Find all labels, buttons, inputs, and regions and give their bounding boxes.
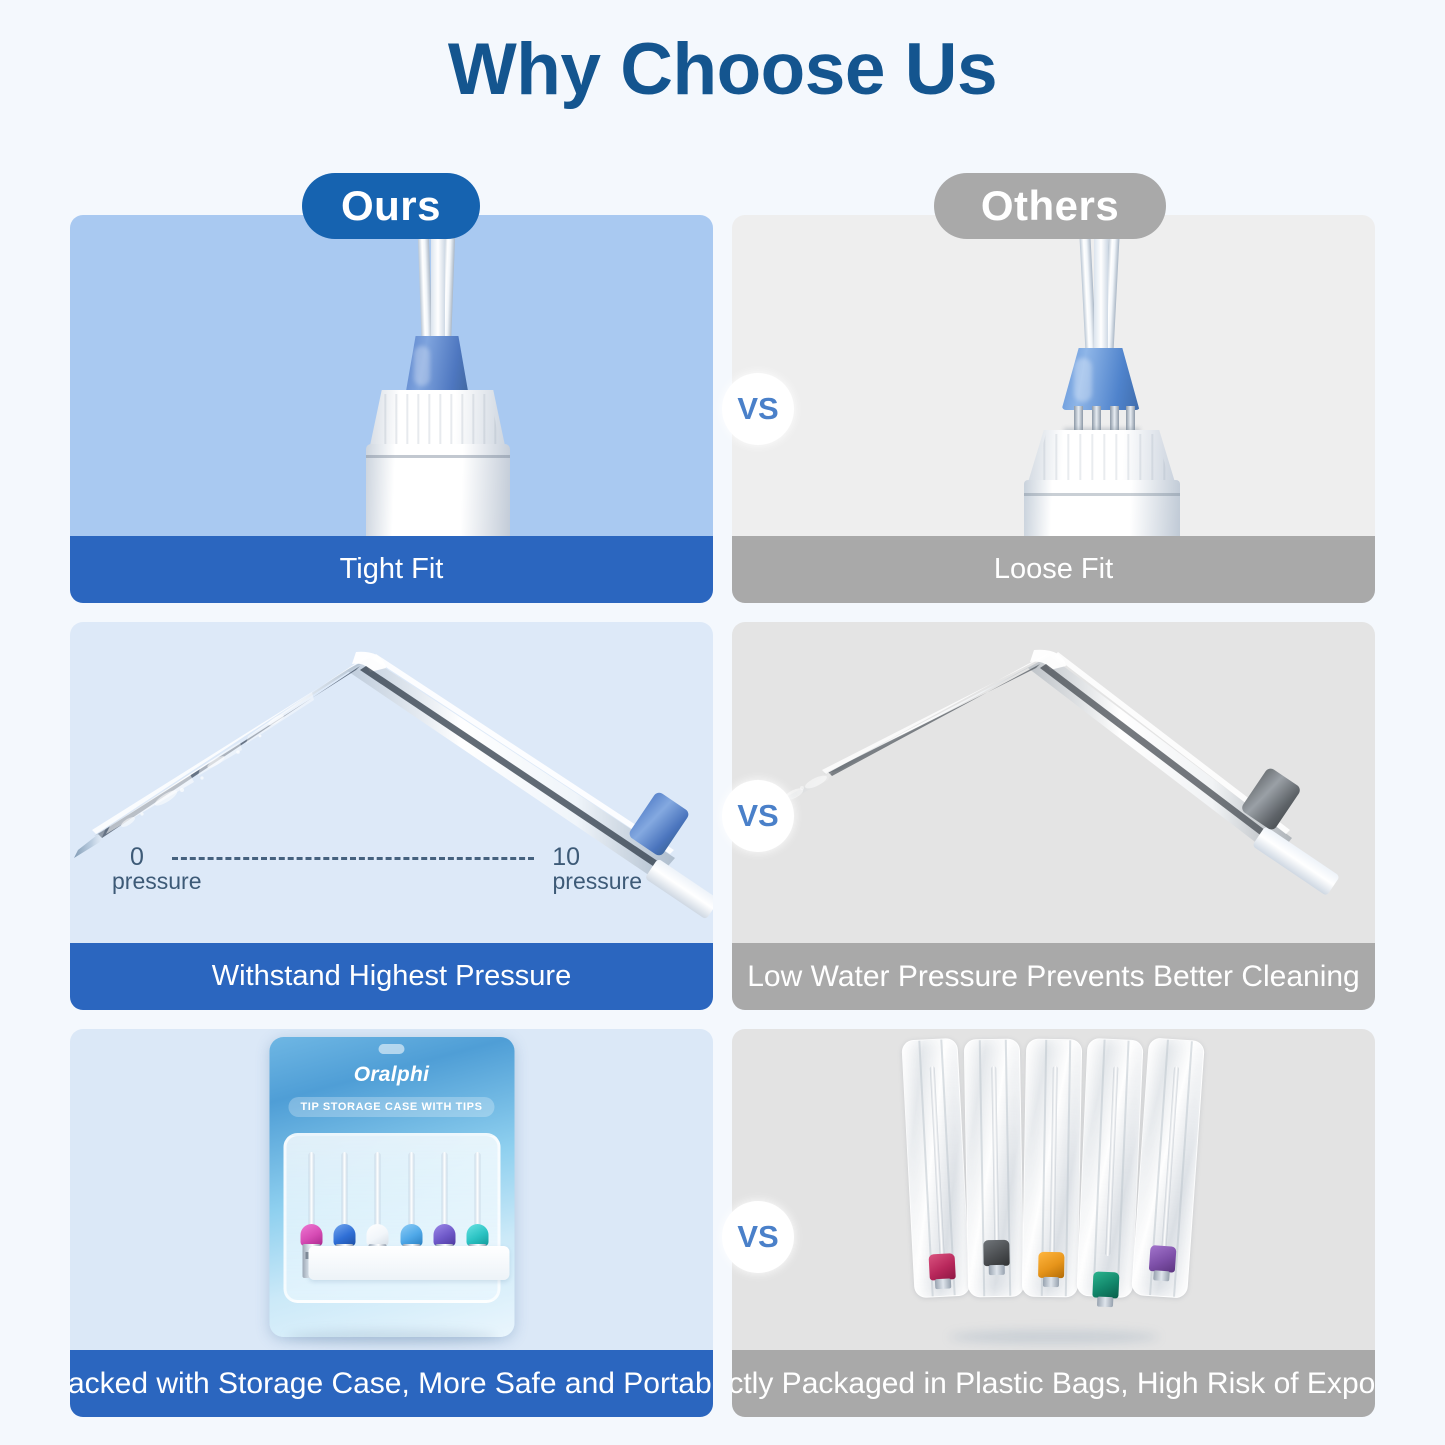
handle-ridges xyxy=(376,394,500,446)
storage-case-package: Oralphi TIP STORAGE CASE WITH TIPS xyxy=(269,1037,514,1337)
caption-others-fit: Loose Fit xyxy=(732,536,1375,603)
tip-cap xyxy=(434,1224,456,1246)
comparison-grid: Tight Fit xyxy=(70,215,1375,1436)
plastic-sleeve xyxy=(901,1038,970,1299)
tip-cap xyxy=(928,1253,955,1280)
tip-shaft xyxy=(929,1066,944,1256)
package-brand: Oralphi xyxy=(269,1063,514,1087)
vs-badge-label: VS xyxy=(737,798,778,834)
comparison-infographic: Why Choose Us Ours Others xyxy=(0,0,1445,1445)
column-badge-others: Others xyxy=(934,173,1166,239)
comparison-row-pressure: 0 pressure 10 pressure Withstand Highest… xyxy=(70,622,1375,1010)
caption-ours-packaging: Packed with Storage Case, More Safe and … xyxy=(70,1350,713,1417)
comparison-row-fit: Tight Fit xyxy=(70,215,1375,603)
hang-hole xyxy=(379,1044,405,1054)
case-tray xyxy=(283,1133,500,1303)
tip-shaft xyxy=(1049,1066,1057,1256)
sleeve-crease xyxy=(1064,1040,1070,1296)
tip-cap xyxy=(1148,1245,1176,1273)
caption-others-packaging: Directly Packaged in Plastic Bags, High … xyxy=(732,1350,1375,1417)
tip-cap xyxy=(983,1240,1009,1266)
caption-others-pressure: Low Water Pressure Prevents Better Clean… xyxy=(732,943,1375,1010)
pressure-max-label: pressure xyxy=(553,868,642,894)
column-badge-ours-label: Ours xyxy=(341,182,441,230)
plastic-bag-bundle xyxy=(904,1039,1204,1339)
product-image-ours-fit xyxy=(70,215,713,536)
sleeve-crease xyxy=(1092,1040,1105,1296)
handle-body xyxy=(1024,480,1180,536)
tip-cap xyxy=(400,1224,422,1246)
product-image-others-fit xyxy=(732,215,1375,536)
drop-shadow xyxy=(949,1330,1159,1344)
pressure-min-label: pressure xyxy=(112,868,201,894)
handle-seam xyxy=(1024,493,1180,496)
card-others-fit: Loose Fit xyxy=(732,215,1375,603)
caption-ours-fit: Tight Fit xyxy=(70,536,713,603)
pressure-max-value: 10 xyxy=(552,843,580,871)
tip-cap xyxy=(367,1224,389,1246)
vs-badge-label: VS xyxy=(737,1219,778,1255)
vs-badge-row-fit: VS xyxy=(722,373,794,445)
tip-cap xyxy=(467,1224,489,1246)
drop-shadow xyxy=(287,1330,497,1344)
card-ours-pressure: 0 pressure 10 pressure Withstand Highest… xyxy=(70,622,713,1010)
product-image-ours-pressure: 0 pressure 10 pressure xyxy=(70,622,713,943)
plastic-sleeve xyxy=(963,1039,1023,1298)
product-image-others-pressure xyxy=(732,622,1375,943)
handle-seam xyxy=(366,455,510,458)
tip-cap xyxy=(1038,1252,1064,1278)
package-subtitle: TIP STORAGE CASE WITH TIPS xyxy=(288,1097,494,1117)
pressure-min-value: 0 xyxy=(130,843,144,871)
handle-ridges xyxy=(1034,434,1170,482)
card-others-packaging: Directly Packaged in Plastic Bags, High … xyxy=(732,1029,1375,1417)
case-base-block xyxy=(308,1246,509,1280)
tip-shaft xyxy=(1105,1066,1118,1256)
collar-highlight xyxy=(1074,358,1092,402)
caption-ours-pressure: Withstand Highest Pressure xyxy=(70,943,713,1010)
column-badge-others-label: Others xyxy=(981,182,1119,230)
tip-cap xyxy=(1092,1271,1119,1298)
tip-cap xyxy=(300,1224,322,1246)
vs-badge-row-packaging: VS xyxy=(722,1201,794,1273)
vs-badge-row-pressure: VS xyxy=(722,780,794,852)
tip-shaft xyxy=(991,1066,999,1256)
vs-badge-label: VS xyxy=(737,391,778,427)
card-others-pressure: Low Water Pressure Prevents Better Clean… xyxy=(732,622,1375,1010)
collar-highlight xyxy=(414,346,430,386)
product-image-ours-packaging: Oralphi TIP STORAGE CASE WITH TIPS xyxy=(70,1029,713,1350)
column-badge-ours: Ours xyxy=(302,173,480,239)
comparison-row-packaging: Oralphi TIP STORAGE CASE WITH TIPS xyxy=(70,1029,1375,1417)
plastic-sleeve xyxy=(1021,1039,1081,1298)
product-image-others-packaging xyxy=(732,1029,1375,1350)
page-title: Why Choose Us xyxy=(0,28,1445,111)
card-ours-fit: Tight Fit xyxy=(70,215,713,603)
pressure-dashed-line xyxy=(172,857,534,860)
pressure-scale: 0 pressure 10 pressure xyxy=(112,843,642,899)
card-ours-packaging: Oralphi TIP STORAGE CASE WITH TIPS xyxy=(70,1029,713,1417)
tip-cap xyxy=(333,1224,355,1246)
